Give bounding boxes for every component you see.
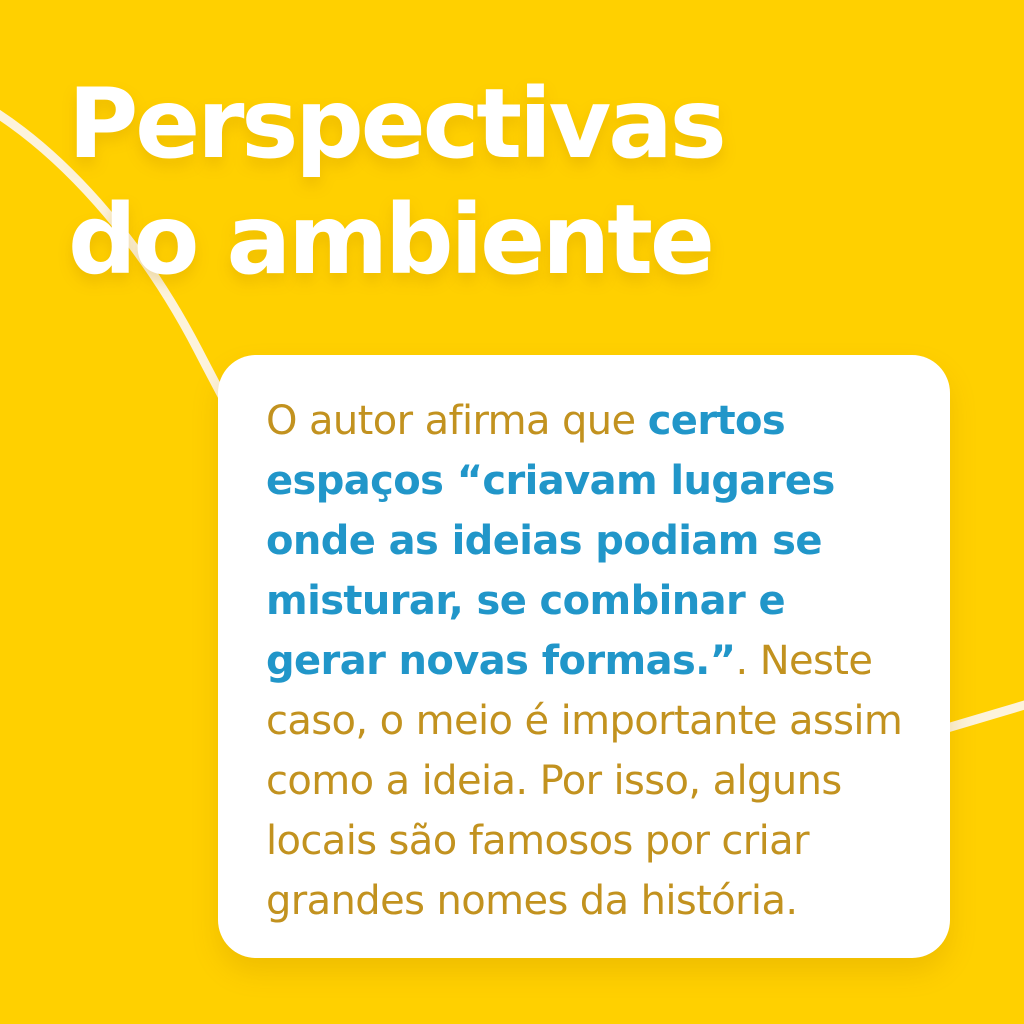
quote-text: O autor afirma que certos espaços “criav… <box>266 391 906 931</box>
title-line-2: do ambiente <box>68 182 968 298</box>
page-title: Perspectivas do ambiente <box>68 66 968 298</box>
slide-canvas: Perspectivas do ambiente O autor afirma … <box>0 0 1024 1024</box>
title-line-1: Perspectivas <box>68 66 968 182</box>
quote-segment-0: O autor afirma que <box>266 398 648 444</box>
quote-card: O autor afirma que certos espaços “criav… <box>218 355 950 958</box>
